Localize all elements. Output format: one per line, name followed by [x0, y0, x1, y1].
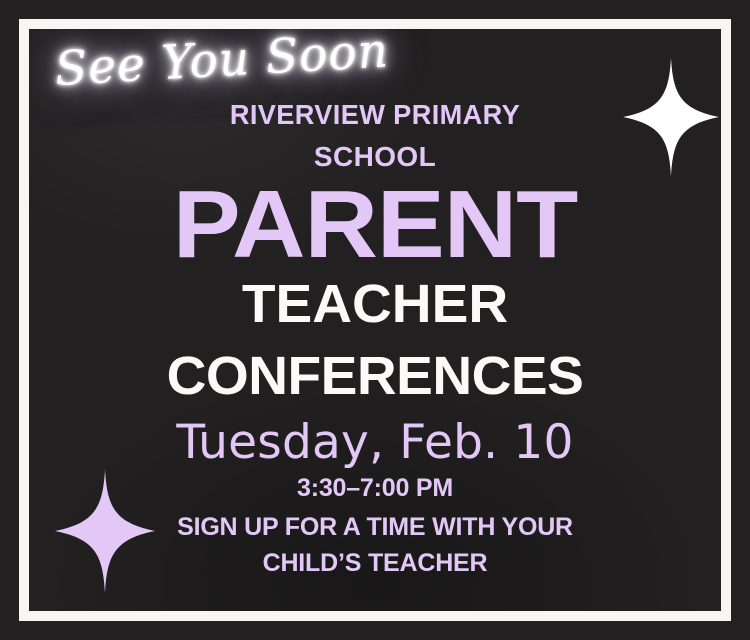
headline-conferences: CONFERENCES [29, 349, 721, 403]
sparkle-bottom-left-icon [55, 469, 155, 593]
poster-stage: See You Soon RIVERVIEW PRIMARY SCHOOL PA… [29, 29, 721, 611]
sparkle-top-right-icon [623, 57, 719, 177]
headline-teacher: TEACHER [29, 277, 721, 331]
event-date: Tuesday, Feb. 10 [29, 419, 721, 466]
poster-canvas: See You Soon RIVERVIEW PRIMARY SCHOOL PA… [0, 0, 750, 640]
headline-parent: PARENT [29, 177, 721, 273]
school-name-line-1: RIVERVIEW PRIMARY [39, 101, 710, 129]
school-name-line-2: SCHOOL [29, 143, 721, 171]
